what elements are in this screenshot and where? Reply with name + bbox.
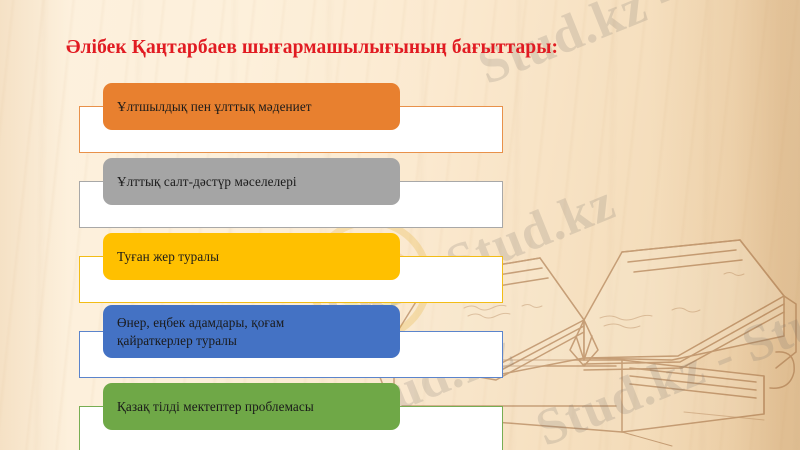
slide-canvas: Stud.kz - Stud.kz Stud.kz - Stud.kz Stud… [0, 0, 800, 450]
direction-label-4: Өнер, еңбек адамдары, қоғам қайраткерлер… [117, 314, 284, 350]
direction-pill-4[interactable]: Өнер, еңбек адамдары, қоғам қайраткерлер… [103, 305, 400, 358]
direction-label-1: Ұлтшылдық пен ұлттық мәдениет [117, 99, 312, 115]
direction-pill-3[interactable]: Туған жер туралы [103, 233, 400, 280]
direction-label-5: Қазақ тілді мектептер проблемасы [117, 399, 314, 415]
direction-label-4-line1: Өнер, еңбек адамдары, қоғам [117, 315, 284, 330]
direction-label-3: Туған жер туралы [117, 249, 219, 265]
direction-label-2: Ұлттық салт-дәстүр мәселелері [117, 174, 297, 190]
direction-row-2: Ұлттық салт-дәстүр мәселелері [0, 153, 800, 228]
direction-pill-1[interactable]: Ұлтшылдық пен ұлттық мәдениет [103, 83, 400, 130]
direction-pill-5[interactable]: Қазақ тілді мектептер проблемасы [103, 383, 400, 430]
direction-label-4-line2: қайраткерлер туралы [117, 333, 237, 348]
direction-pill-2[interactable]: Ұлттық салт-дәстүр мәселелері [103, 158, 400, 205]
direction-row-4: Өнер, еңбек адамдары, қоғам қайраткерлер… [0, 303, 800, 378]
direction-row-1: Ұлтшылдық пен ұлттық мәдениет [0, 78, 800, 153]
direction-row-3: Туған жер туралы [0, 228, 800, 303]
direction-row-5: Қазақ тілді мектептер проблемасы [0, 378, 800, 450]
slide-title: Әлібек Қаңтарбаев шығармашылығының бағыт… [66, 37, 558, 59]
